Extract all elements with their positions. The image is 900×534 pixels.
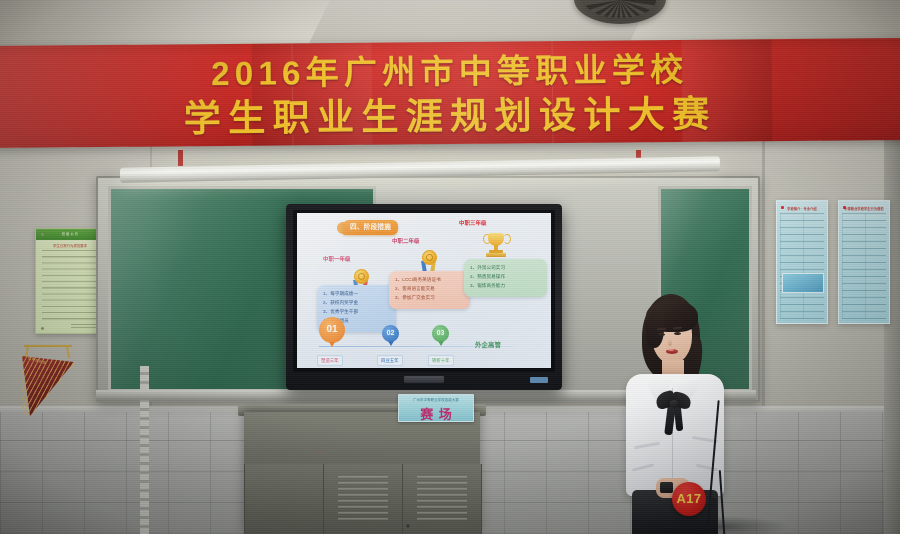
venue-sign: 广州市中等职业学校技能大赛 赛场 (398, 394, 474, 422)
right-info-panel-2-header: 中等职业学校学生行为规范 (842, 206, 886, 211)
stage-2-badge: 02 (382, 325, 399, 342)
shirt-fold (632, 463, 654, 471)
event-banner: 2016年广州市中等职业学校 学生职业生涯规划设计大赛 (0, 38, 900, 148)
bow-tie-tail (674, 405, 684, 432)
nose (668, 339, 672, 346)
screw-icon (41, 233, 44, 236)
mouth-highlight (668, 349, 674, 351)
right-info-panel-2: 中等职业学校学生行为规范 (838, 200, 890, 324)
podium-door-middle[interactable] (323, 464, 403, 534)
stage-3-badge: 03 (432, 325, 449, 342)
eye-right (674, 332, 681, 335)
display-screen: 四、阶段措施 中职一年级 中职二年级 中职三年级 1、每学期成绩一 2、获校内奖… (297, 213, 551, 368)
panel-pin-icon (843, 206, 846, 209)
stage-2-badge-label: 02 (387, 330, 395, 337)
stage-1-badge-label: 01 (326, 324, 337, 335)
slide-title: 四、阶段措施 (343, 220, 398, 235)
stage-3-card: 1、外贸公司实习 2、熟悉贸易操作 3、锻炼商务能力 (464, 259, 547, 297)
stage-3-item: 3、锻炼商务能力 (470, 283, 542, 290)
right-info-panel-1: 学校简介 · 专业介绍 (776, 200, 828, 324)
display-power-indicator (530, 377, 548, 383)
podium-door-right[interactable] (402, 464, 482, 534)
panel-pin-icon (781, 206, 784, 209)
podium-scuff-mark: ⚯ (314, 446, 324, 460)
podium-door-left[interactable] (244, 464, 324, 534)
stage-2-card: 1、LCCI商务英语证书 2、客商语言能交易 3、参加广交会实习 (389, 271, 470, 309)
left-notice-board: 班 级 公 约 学生日常行为规范要求 (35, 228, 105, 334)
stage-2-tick-label: 四业五年 (377, 355, 403, 366)
stage-2-grade-label: 中职二年级 (392, 239, 420, 247)
banner-sheen (0, 38, 900, 148)
presenter: A17 (612, 292, 738, 534)
podium-door-knob[interactable] (406, 524, 410, 528)
eye-left (658, 333, 665, 336)
stage-3-item: 1、外贸公司实习 (470, 265, 542, 272)
shirt-fold (696, 464, 718, 471)
stage-1-tick-label: 塑造三年 (317, 355, 343, 366)
notice-board-signature (71, 324, 97, 329)
presentation-slide: 四、阶段措施 中职一年级 中职二年级 中职三年级 1、每学期成绩一 2、获校内奖… (297, 213, 551, 368)
stage-2-item: 1、LCCI商务英语证书 (395, 277, 465, 284)
black-bow-tie (656, 392, 692, 436)
stage-1-item: 1、每学期成绩一 (323, 291, 391, 298)
tube-light-bracket (178, 150, 183, 166)
right-info-panel-2-text (842, 213, 886, 319)
trophy-icon (484, 233, 508, 259)
stage-3-badge-label: 03 (437, 330, 445, 337)
pennant-cord (66, 346, 70, 358)
louver-vent-icon (417, 476, 467, 524)
classroom-presentation-photo: 班 级 公 约 学生日常行为规范要求 优秀组织奖 学校简介 · 专业介绍 中等职… (0, 0, 900, 534)
right-info-panel-1-photo (782, 273, 824, 293)
stage-1-badge: 01 (319, 317, 345, 343)
shirt-fold (634, 442, 660, 449)
podium-cabinet: ⚯ (244, 412, 480, 534)
lcd-display-icon[interactable]: 四、阶段措施 中职一年级 中职二年级 中职三年级 1、每学期成绩一 2、获校内奖… (286, 204, 562, 390)
stage-1-grade-label: 中职一年级 (323, 257, 351, 265)
stage-2-item: 2、客商语言能交易 (395, 286, 465, 293)
right-info-panel-1-header: 学校简介 · 专业介绍 (780, 206, 824, 211)
screw-icon (41, 327, 44, 330)
stage-1-item: 2、获校内奖学金 (323, 300, 391, 307)
venue-sign-title: 赛场 (399, 404, 473, 423)
pennant-rod (24, 345, 72, 347)
microphone-transmitter (710, 498, 717, 510)
stage-3-item: 2、熟悉贸易操作 (470, 274, 542, 281)
award-pennant-flag: 优秀组织奖 (22, 345, 76, 423)
bow-tie-knot (670, 400, 678, 408)
stage-3-tick-label: 转折十年 (428, 355, 454, 366)
notice-board-band: 班 级 公 约 (36, 229, 104, 240)
right-info-panel-1-text (780, 213, 824, 319)
notice-board-header: 学生日常行为规范要求 (42, 243, 98, 248)
stage-3-grade-label: 中职三年级 (459, 221, 487, 229)
notice-board-text-lines (42, 250, 99, 323)
notice-board-band-label: 班 级 公 约 (36, 229, 104, 240)
stage-1-item: 3、优秀学生干部 (323, 309, 391, 316)
contestant-number-label: A17 (672, 482, 706, 516)
contestant-number-badge: A17 (672, 482, 706, 516)
venue-sign-subtitle: 广州市中等职业学校技能大赛 (399, 397, 473, 402)
slide-goal-label: 外企高管 (475, 341, 501, 350)
display-brand-logo (404, 376, 444, 383)
stage-2-item: 3、参加广交会实习 (395, 295, 465, 302)
louver-vent-icon (338, 476, 388, 524)
